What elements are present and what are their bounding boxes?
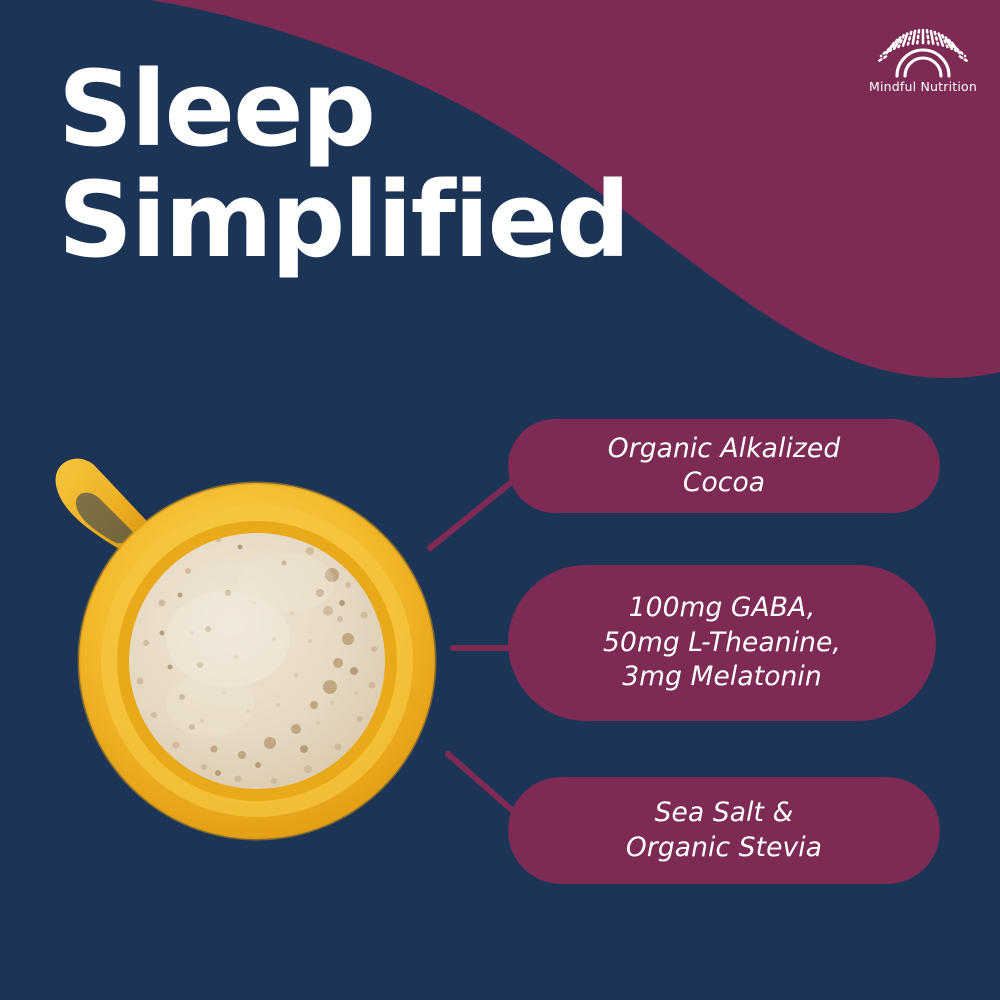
sunrise-arch-icon — [875, 28, 971, 78]
page-title: Sleep Simplified — [58, 58, 758, 272]
promo-poster: Mindful Nutrition Sleep Simplified — [0, 0, 1000, 1000]
headline-line-2: Simplified — [58, 169, 758, 272]
callout-sweeteners[interactable]: Sea Salt & Organic Stevia — [508, 777, 940, 884]
brand-logo: Mindful Nutrition — [862, 28, 984, 106]
callout-actives[interactable]: 100mg GABA, 50mg L-Theanine, 3mg Melaton… — [508, 565, 936, 721]
callout-actives-label: 100mg GABA, 50mg L-Theanine, 3mg Melaton… — [577, 591, 867, 694]
headline-line-1: Sleep — [58, 58, 758, 161]
callout-sweeteners-label: Sea Salt & Organic Stevia — [600, 796, 848, 865]
brand-name: Mindful Nutrition — [869, 79, 977, 94]
callout-cocoa[interactable]: Organic Alkalized Cocoa — [508, 419, 940, 513]
callout-cocoa-label: Organic Alkalized Cocoa — [582, 432, 867, 501]
mug-image — [42, 443, 462, 853]
